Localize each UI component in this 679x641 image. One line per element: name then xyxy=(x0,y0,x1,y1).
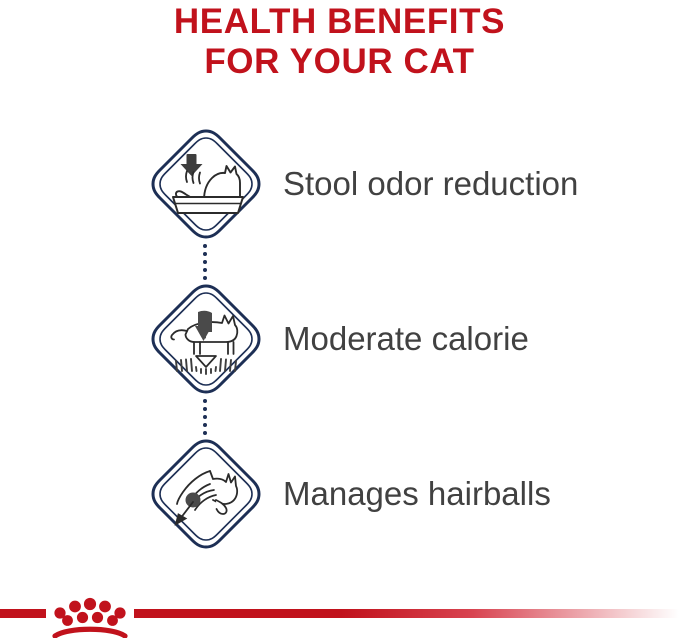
connector-dot xyxy=(203,260,207,264)
benefits-list: Stool odor reduction xyxy=(0,128,679,558)
benefit-label: Stool odor reduction xyxy=(283,128,578,240)
cat-litter-box-down-arrow-icon xyxy=(150,128,262,240)
footer-brand-bar xyxy=(0,569,679,641)
connector-dot xyxy=(203,244,207,248)
cat-on-scale-down-arrow-icon xyxy=(150,283,262,395)
connector-dots xyxy=(203,244,208,282)
connector-dots xyxy=(203,399,208,437)
benefit-label: Moderate calorie xyxy=(283,283,529,395)
benefit-row: Stool odor reduction xyxy=(0,128,679,283)
benefit-row: Moderate calorie xyxy=(0,283,679,438)
connector-dot xyxy=(203,415,207,419)
page-root: HEALTH BENEFITS FOR YOUR CAT xyxy=(0,0,679,641)
brand-rule-left xyxy=(0,609,46,618)
benefit-row: Manages hairballs xyxy=(0,438,679,558)
cat-hairball-arrow-icon xyxy=(150,438,262,550)
page-title-line-2: FOR YOUR CAT xyxy=(0,42,679,82)
connector-dot xyxy=(203,252,207,256)
page-title-line-1: HEALTH BENEFITS xyxy=(0,2,679,42)
connector-dot xyxy=(203,423,207,427)
connector-dot xyxy=(203,399,207,403)
connector-dot xyxy=(203,431,207,435)
royal-canin-crown-logo xyxy=(46,586,134,638)
page-title: HEALTH BENEFITS FOR YOUR CAT xyxy=(0,2,679,82)
connector-dot xyxy=(203,407,207,411)
brand-rule-right xyxy=(134,609,679,618)
connector-dot xyxy=(203,268,207,272)
benefit-label: Manages hairballs xyxy=(283,438,551,550)
connector-dot xyxy=(203,276,207,280)
